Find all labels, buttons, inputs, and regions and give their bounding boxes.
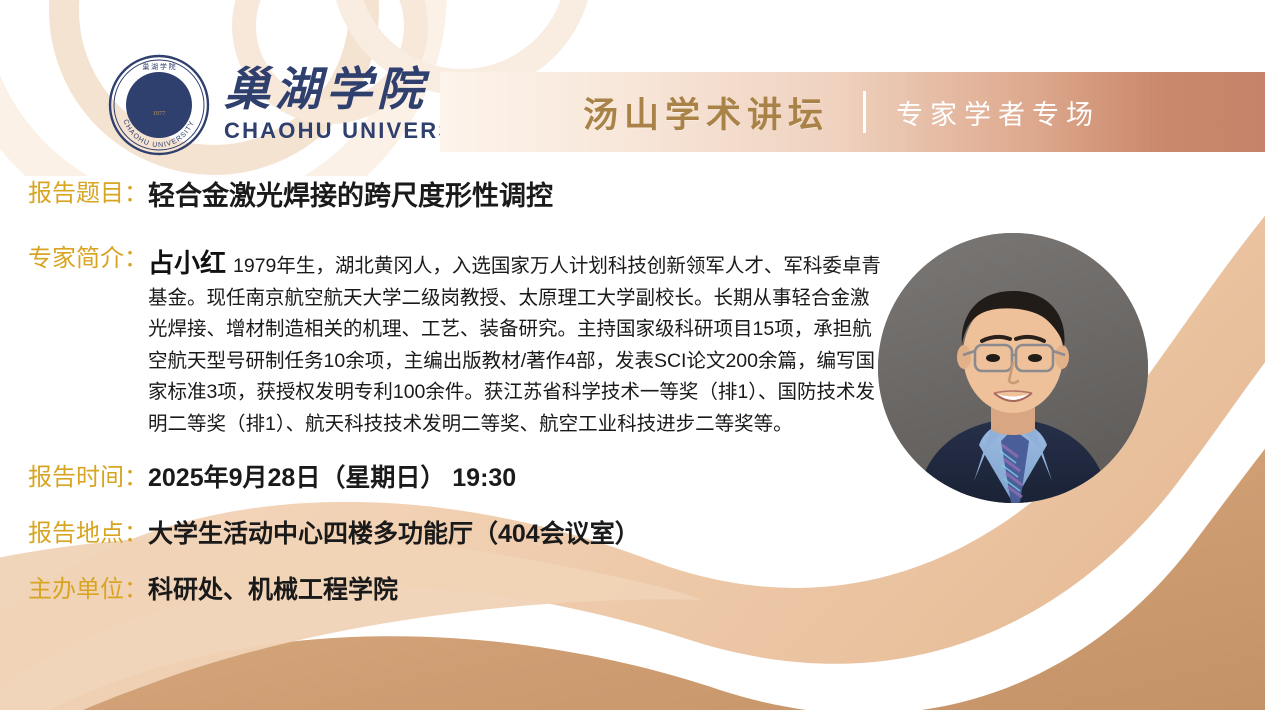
speaker-portrait — [878, 233, 1148, 503]
svg-text:1977: 1977 — [153, 110, 167, 117]
banner-subtitle: 专家学者专场 — [896, 93, 1100, 132]
banner-main-title: 汤山学术讲坛 — [583, 87, 829, 138]
header-banner: 汤山学术讲坛 专家学者专场 — [440, 72, 1265, 152]
talk-title-label: 报告题目： — [28, 178, 148, 210]
banner-separator — [863, 91, 866, 133]
talk-host-label: 主办单位： — [28, 574, 148, 606]
svg-text:巢 湖 学 院: 巢 湖 学 院 — [142, 62, 175, 71]
talk-place-row: 报告地点： 大学生活动中心四楼多功能厅（404会议室） — [28, 518, 640, 552]
poster-root: 1977 巢 湖 学 院 CHAOHU UNIVERSITY 巢湖学院 CHAO… — [0, 0, 1265, 710]
talk-place-value: 大学生活动中心四楼多功能厅（404会议室） — [148, 518, 640, 552]
talk-time-label: 报告时间： — [28, 462, 148, 494]
speaker-bio-label: 专家简介： — [28, 243, 148, 275]
university-logo: 1977 巢 湖 学 院 CHAOHU UNIVERSITY 巢湖学院 CHAO… — [108, 54, 496, 156]
talk-host-value: 科研处、机械工程学院 — [148, 574, 398, 608]
speaker-bio-text: 1979年生，湖北黄冈人，入选国家万人计划科技创新领军人才、军科委卓青基金。现任… — [148, 255, 881, 435]
talk-host-row: 主办单位： 科研处、机械工程学院 — [28, 574, 398, 608]
chaohu-university-seal-icon: 1977 巢 湖 学 院 CHAOHU UNIVERSITY — [108, 54, 210, 156]
speaker-bio-row: 专家简介： 占小红1979年生，湖北黄冈人，入选国家万人计划科技创新领军人才、军… — [28, 243, 888, 440]
talk-place-label: 报告地点： — [28, 518, 148, 550]
speaker-name: 占小红 — [148, 248, 226, 278]
talk-title-row: 报告题目： 轻合金激光焊接的跨尺度形性调控 — [28, 178, 553, 214]
speaker-bio-body: 占小红1979年生，湖北黄冈人，入选国家万人计划科技创新领军人才、军科委卓青基金… — [148, 243, 883, 440]
talk-title-value: 轻合金激光焊接的跨尺度形性调控 — [148, 178, 553, 214]
talk-time-row: 报告时间： 2025年9月28日（星期日） 19:30 — [28, 462, 516, 496]
talk-time-value: 2025年9月28日（星期日） 19:30 — [148, 462, 516, 496]
